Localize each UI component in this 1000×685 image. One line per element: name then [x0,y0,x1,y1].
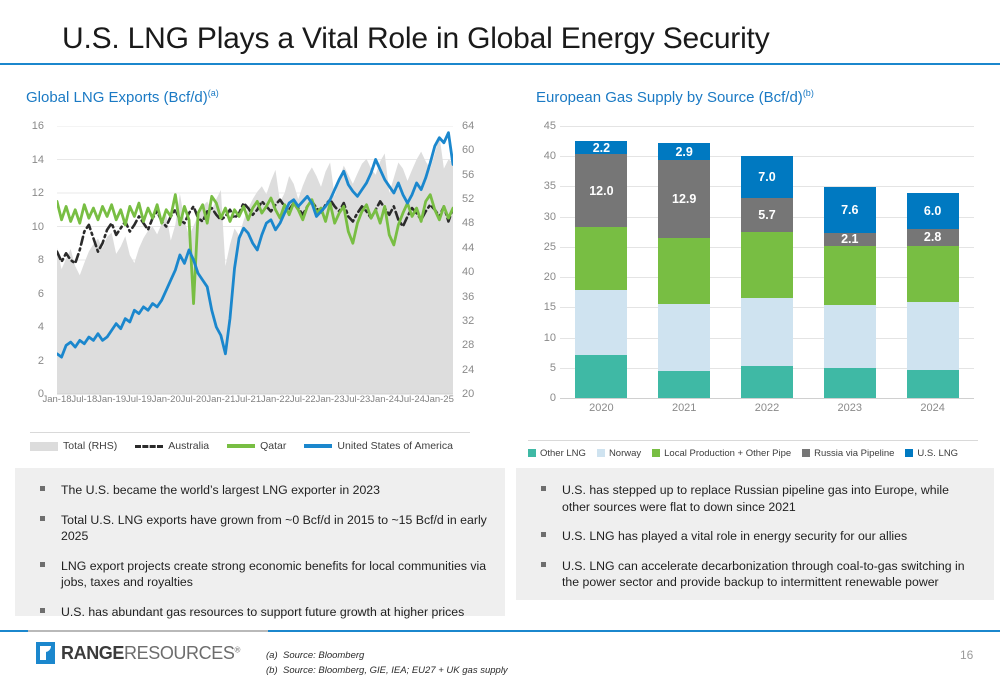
bullet-text: U.S. has stepped up to replace Russian p… [562,483,949,514]
left-chart-x-tick: Jul-19 [126,394,152,405]
legend-label: Norway [609,448,641,459]
legend-swatch-icon [802,449,810,457]
right-chart-y-tick: 5 [522,362,556,374]
legend-swatch-icon [135,445,163,448]
bullet-item: Total U.S. LNG exports have grown from ~… [33,512,487,545]
left-chart-y2-tick: 60 [462,144,474,156]
bar-column[interactable]: 2.17.6 [824,126,876,398]
right-chart-heading-text: European Gas Supply by Source (Bcf/d) [536,89,803,106]
bar-value-label: 12.0 [575,184,627,198]
title-divider [0,63,1000,65]
right-chart-y-tick: 30 [522,211,556,223]
bar-segment[interactable] [907,370,959,398]
legend-item-qatar[interactable]: Qatar [227,440,286,452]
bar-value-label: 7.6 [824,203,876,217]
left-chart-x-tick: Jul-20 [181,394,207,405]
bar-segment[interactable] [741,298,793,366]
bar-value-label: 7.0 [741,170,793,184]
left-chart-y2-tick: 56 [462,169,474,181]
bar-segment[interactable] [824,368,876,398]
european-gas-supply-chart: 12.02.212.92.95.77.02.17.62.86.0 0510152… [516,120,986,415]
legend-item-united-states-of-america[interactable]: United States of America [304,440,453,452]
global-lng-exports-chart: 0246810121416 202428323640444852566064 J… [26,120,486,410]
legend-swatch-icon [597,449,605,457]
left-chart-heading-superscript: (a) [208,88,219,98]
source-note-text: Source: Bloomberg [283,650,364,661]
legend-item-local-production-other-pipe[interactable]: Local Production + Other Pipe [652,448,791,459]
bar-segment[interactable] [907,246,959,302]
legend-label: Russia via Pipeline [814,448,894,459]
legend-swatch-icon [304,444,332,448]
bullet-item: The U.S. became the world’s largest LNG … [33,482,487,499]
legend-label: Total (RHS) [63,440,117,452]
logo-registered-mark: ® [234,645,240,654]
bullet-item: LNG export projects create strong econom… [33,558,487,591]
page-title: U.S. LNG Plays a Vital Role in Global En… [62,22,770,56]
right-legend-divider [528,440,978,441]
right-chart-y-tick: 45 [522,120,556,132]
bullet-text: Total U.S. LNG exports have grown from ~… [61,513,487,544]
legend-item-australia[interactable]: Australia [135,440,209,452]
left-chart-x-tick: Jan-19 [97,394,126,405]
source-note: (b)Source: Bloomberg, GIE, IEA; EU27 + U… [266,663,508,678]
legend-label: U.S. LNG [917,448,958,459]
left-chart-y-tick: 16 [32,120,44,132]
logo-secondary-text: RESOURCES [124,643,234,663]
left-chart-x-tick: Jan-20 [152,394,181,405]
bullet-text: U.S. LNG has played a vital role in ener… [562,529,907,543]
source-notes: (a)Source: Bloomberg(b)Source: Bloomberg… [266,648,508,678]
slide: U.S. LNG Plays a Vital Role in Global En… [0,0,1000,685]
left-chart-x-tick: Jul-23 [344,394,370,405]
legend-label: United States of America [337,440,453,452]
right-chart-y-tick: 40 [522,150,556,162]
left-chart-x-tick: Jan-25 [425,394,454,405]
bullet-item: U.S. LNG can accelerate decarbonization … [534,558,976,591]
left-bullet-list: The U.S. became the world’s largest LNG … [15,468,505,621]
left-chart-x-tick: Jul-24 [399,394,425,405]
right-chart-plot-area: 12.02.212.92.95.77.02.17.62.86.0 [560,126,974,398]
bar-value-label: 2.8 [907,230,959,244]
left-chart-y2-tick: 64 [462,120,474,132]
left-chart-heading: Global LNG Exports (Bcf/d)(a) [26,88,219,106]
left-chart-x-tick: Jan-21 [206,394,235,405]
bar-segment[interactable] [658,238,710,304]
right-bullet-list: U.S. has stepped up to replace Russian p… [516,468,994,591]
left-chart-x-tick: Jan-24 [370,394,399,405]
left-chart-legend: Total (RHS)AustraliaQatarUnited States o… [30,437,470,455]
bar-segment[interactable] [575,290,627,355]
bullet-item: U.S. has abundant gas resources to suppo… [33,604,487,621]
right-chart-y-tick: 25 [522,241,556,253]
left-chart-y2-tick: 40 [462,266,474,278]
legend-swatch-icon [528,449,536,457]
bar-segment[interactable] [741,366,793,398]
bullet-item: U.S. LNG has played a vital role in ener… [534,528,976,545]
right-chart-baseline [560,398,974,399]
left-chart-y-tick: 10 [32,221,44,233]
legend-label: Other LNG [540,448,586,459]
left-chart-x-tick: Jan-18 [42,394,71,405]
bullet-square-icon [541,562,546,567]
left-chart-y2-tick: 48 [462,217,474,229]
left-chart-y2-tick: 44 [462,242,474,254]
right-chart-y-tick: 0 [522,392,556,404]
legend-item-norway[interactable]: Norway [597,448,641,459]
bar-column[interactable]: 12.92.9 [658,126,710,398]
left-chart-heading-text: Global LNG Exports (Bcf/d) [26,89,208,106]
bar-value-label: 2.1 [824,232,876,246]
bullet-text: The U.S. became the world’s largest LNG … [61,483,380,497]
bar-value-label: 12.9 [658,192,710,206]
bullet-square-icon [541,486,546,491]
source-note-tag: (b) [266,663,283,678]
right-chart-heading: European Gas Supply by Source (Bcf/d)(b) [536,88,814,106]
bar-value-label: 5.7 [741,208,793,222]
left-chart-y-tick: 8 [38,254,44,266]
bar-value-label: 2.9 [658,145,710,159]
bar-segment[interactable] [824,305,876,368]
left-chart-x-tick: Jan-23 [316,394,345,405]
right-chart-x-tick: 2021 [672,402,696,414]
right-chart-x-tick: 2024 [920,402,944,414]
right-chart-y-tick: 15 [522,301,556,313]
right-chart-x-tick: 2022 [755,402,779,414]
range-logo-mark-icon [36,642,55,664]
bullet-text: LNG export projects create strong econom… [61,559,486,590]
legend-label: Local Production + Other Pipe [664,448,791,459]
left-chart-y2-tick: 52 [462,193,474,205]
legend-item-total-rhs[interactable]: Total (RHS) [30,440,117,452]
legend-item-russia-via-pipeline[interactable]: Russia via Pipeline [802,448,894,459]
left-chart-y-tick: 2 [38,355,44,367]
legend-swatch-icon [227,444,255,448]
left-chart-y-tick: 4 [38,321,44,333]
left-chart-y-tick: 14 [32,154,44,166]
bar-segment[interactable] [658,304,710,371]
bullet-item: U.S. has stepped up to replace Russian p… [534,482,976,515]
page-number: 16 [960,648,973,662]
bar-segment[interactable] [907,302,959,370]
bar-column[interactable]: 2.86.0 [907,126,959,398]
bar-column[interactable]: 5.77.0 [741,126,793,398]
left-chart-y2-tick: 28 [462,339,474,351]
left-chart-x-tick: Jul-18 [71,394,97,405]
bullet-text: U.S. has abundant gas resources to suppo… [61,605,464,619]
left-chart-x-tick: Jan-22 [261,394,290,405]
right-chart-heading-superscript: (b) [803,88,814,98]
right-chart-y-tick: 35 [522,180,556,192]
bar-value-label: 2.2 [575,141,627,155]
bar-segment[interactable] [575,355,627,398]
left-chart-x-tick: Jul-22 [290,394,316,405]
bar-column[interactable]: 12.02.2 [575,126,627,398]
legend-item-u-s-lng[interactable]: U.S. LNG [905,448,958,459]
bar-segment[interactable] [658,371,710,398]
right-chart-legend: Other LNGNorwayLocal Production + Other … [528,445,978,461]
left-chart-y-tick: 6 [38,288,44,300]
legend-label: Qatar [260,440,286,452]
left-legend-divider [30,432,470,433]
bar-segment[interactable] [741,232,793,297]
legend-item-other-lng[interactable]: Other LNG [528,448,586,459]
bullet-square-icon [541,532,546,537]
legend-swatch-icon [905,449,913,457]
source-note: (a)Source: Bloomberg [266,648,508,663]
legend-swatch-icon [652,449,660,457]
bar-segment[interactable] [575,227,627,290]
left-chart-y2-tick: 20 [462,388,474,400]
left-chart-x-tick: Jul-21 [235,394,261,405]
left-chart-y2-tick: 32 [462,315,474,327]
bar-value-label: 6.0 [907,204,959,218]
bullet-text: U.S. LNG can accelerate decarbonization … [562,559,965,590]
right-bullet-panel: U.S. has stepped up to replace Russian p… [516,468,994,600]
bullet-square-icon [40,486,45,491]
bullet-square-icon [40,516,45,521]
bullet-square-icon [40,608,45,613]
range-resources-logo: RANGERESOURCES® [36,642,240,664]
logo-primary-text: RANGE [61,643,124,663]
right-chart-x-tick: 2020 [589,402,613,414]
left-chart-y2-tick: 24 [462,364,474,376]
left-chart-plot-area [57,126,453,394]
right-chart-x-tick: 2023 [838,402,862,414]
footer-divider-grey [28,630,268,632]
source-note-text: Source: Bloomberg, GIE, IEA; EU27 + UK g… [283,665,508,676]
legend-swatch-icon [30,442,58,451]
bullet-square-icon [40,562,45,567]
source-note-tag: (a) [266,648,283,663]
left-chart-area-total [57,135,453,394]
right-chart-y-tick: 20 [522,271,556,283]
left-bullet-panel: The U.S. became the world’s largest LNG … [15,468,505,616]
bar-segment[interactable] [824,246,876,305]
left-chart-y-tick: 12 [32,187,44,199]
left-chart-y2-tick: 36 [462,291,474,303]
legend-label: Australia [168,440,209,452]
right-chart-y-tick: 10 [522,332,556,344]
